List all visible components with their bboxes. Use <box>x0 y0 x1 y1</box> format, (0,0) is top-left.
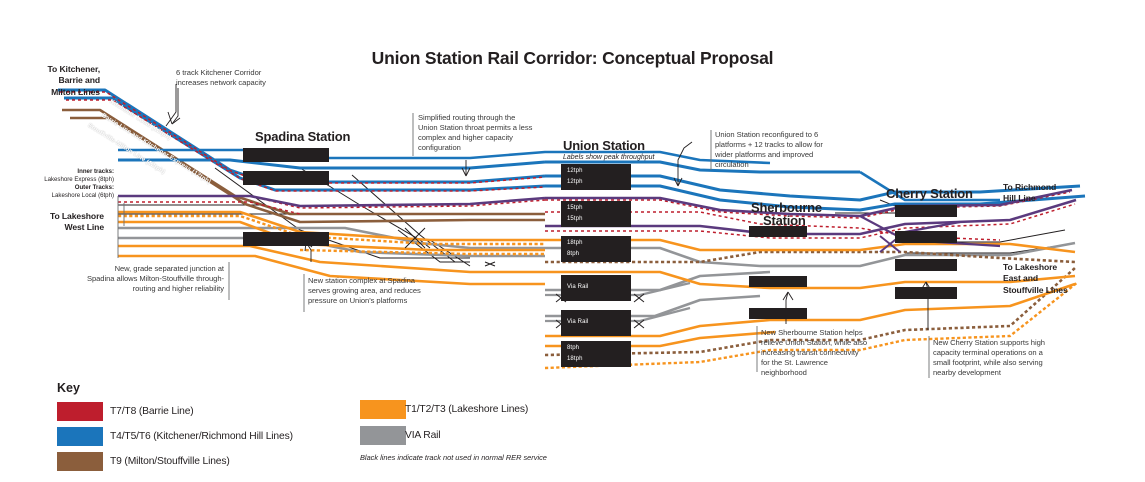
inner-tracks-heading: Inner tracks: <box>77 168 114 175</box>
annotation-kitchener-corridor: 6 track Kitchener Corridor increases net… <box>176 68 294 88</box>
legend-label-via: VIA Rail <box>405 430 440 441</box>
legend-title: Key <box>57 381 80 395</box>
legend-swatch-lakeshore <box>360 400 406 419</box>
platform-cherry-2 <box>895 231 957 243</box>
legend-swatch-barrie <box>57 402 103 421</box>
station-name-cherry: Cherry Station <box>886 186 973 201</box>
union-platform-label-6-top: 8tph <box>567 345 579 351</box>
platform-sherbourne-2 <box>749 276 807 287</box>
diagram-canvas: Union Station Rail Corridor: Conceptual … <box>0 0 1145 482</box>
edge-label-top-right: To Richmond Hill Line <box>1003 182 1093 205</box>
legend-swatch-via <box>360 426 406 445</box>
platform-spadina-3 <box>243 232 329 246</box>
legend-note: Black lines indicate track not used in n… <box>360 453 547 462</box>
inner-tracks-body: Lakeshore Express (8tph) <box>44 176 114 183</box>
platform-cherry-3 <box>895 259 957 271</box>
station-name-sherbourne-line2: Station <box>763 213 806 228</box>
legend-swatch-kitchener <box>57 427 103 446</box>
annotation-union-reconfigured: Union Station reconfigured to 6 platform… <box>715 130 833 170</box>
legend-label-kitchener: T4/T5/T6 (Kitchener/Richmond Hill Lines) <box>110 431 293 442</box>
union-platform-label-3-top: 18tph <box>567 240 583 246</box>
annotation-simplified-routing: Simplified routing through the Union Sta… <box>418 113 534 153</box>
outer-tracks-heading: Outer Tracks: <box>75 184 114 191</box>
union-platform-label-1-bottom: 12tph <box>567 179 583 185</box>
platform-spadina-1 <box>243 148 329 162</box>
union-platform-label-2-bottom: 15tph <box>567 216 583 222</box>
union-platform-label-4-top: Via Rail <box>567 284 588 290</box>
platform-cherry-4 <box>895 287 957 299</box>
annotation-spadina-junction: New, grade separated junction at Spadina… <box>86 264 224 294</box>
legend-swatch-milton <box>57 452 103 471</box>
union-platform-label-6-bottom: 18tph <box>567 356 583 362</box>
station-subtitle-union: Labels show peak throughput <box>563 154 654 161</box>
annotation-sherbourne: New Sherbourne Station helps relieve Uni… <box>761 328 867 378</box>
platform-sherbourne-3 <box>749 308 807 319</box>
annotation-cherry: New Cherry Station supports high capacit… <box>933 338 1057 378</box>
legend-label-milton: T9 (Milton/Stouffville Lines) <box>110 456 230 467</box>
edge-label-top-left: To Kitchener, Barrie and Milton Lines <box>20 64 100 98</box>
inner-outer-tracks-note: Inner tracks: Lakeshore Express (8tph) O… <box>0 168 114 200</box>
legend-label-lakeshore: T1/T2/T3 (Lakeshore Lines) <box>405 404 528 415</box>
annotation-spadina-complex: New station complex at Spadina serves gr… <box>308 276 432 306</box>
edge-label-mid-right: To Lakeshore East and Stouffville Lines <box>1003 262 1103 296</box>
station-name-union: Union Station <box>563 138 645 153</box>
station-name-spadina: Spadina Station <box>255 129 350 144</box>
edge-label-mid-left: To Lakeshore West Line <box>28 211 104 234</box>
outer-tracks-body: Lakeshore Local (6tph) <box>52 192 114 199</box>
platform-spadina-2 <box>243 171 329 185</box>
union-platform-label-2-top: 15tph <box>567 205 583 211</box>
legend-label-barrie: T7/T8 (Barrie Line) <box>110 406 194 417</box>
union-platform-label-5-top: Via Rail <box>567 319 588 325</box>
union-platform-label-1-top: 12tph <box>567 168 583 174</box>
union-platform-label-3-bottom: 8tph <box>567 251 579 257</box>
platform-cherry-1 <box>895 205 957 217</box>
